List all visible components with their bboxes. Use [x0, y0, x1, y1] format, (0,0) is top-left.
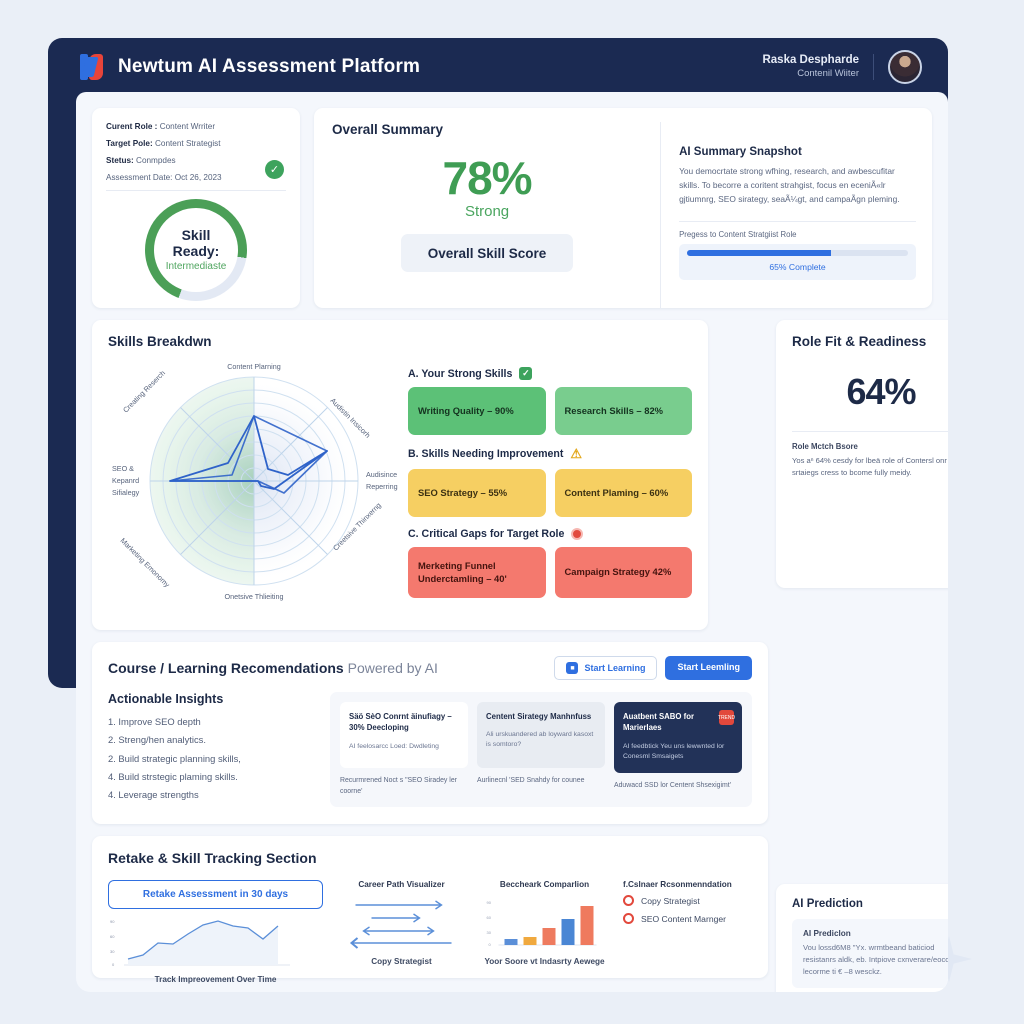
role-fit-title: Role Fit & Readiness: [792, 334, 948, 349]
svg-text:30: 30: [487, 930, 492, 935]
overall-score-rating: Strong: [332, 203, 642, 220]
course-card[interactable]: Centent Sirategy Manhnfuss Ali urskuande…: [477, 702, 605, 768]
app-header: Newtum AI Assessment Platform Raska Desp…: [48, 38, 948, 96]
user-role: Contenil Wiiter: [762, 68, 859, 81]
group-b-heading: B. Skills Needing Improvement ⚠: [408, 446, 692, 462]
recommendations-subtitle: Powered by AI: [348, 660, 438, 676]
divider: [106, 190, 286, 191]
retake-assessment-button[interactable]: Retake Assessment in 30 days: [108, 880, 323, 909]
course-item[interactable]: Centent Sirategy Manhnfuss Ali urskuande…: [477, 702, 605, 797]
skills-breakdown-title: Skills Breakdwn: [108, 334, 692, 349]
role-match-label: Role Mctch Bsore: [792, 442, 948, 451]
svg-text:60: 60: [487, 915, 492, 920]
gauge-title-2: Ready:: [173, 243, 220, 259]
list-item: 4. Leverage strengths: [108, 786, 316, 804]
recommendations-buttons: ■ Start Learning Start Leemling: [554, 656, 752, 680]
group-a-heading: A. Your Strong Skills ✓: [408, 367, 692, 380]
benchmark-title: Beccheark Comparlion: [480, 880, 609, 889]
retake-section-title: Retake & Skill Tracking Section: [108, 850, 752, 866]
skill-chip[interactable]: Writing Quality – 90%: [408, 387, 546, 435]
skills-breakdown-card: Skills Breakdwn: [92, 320, 708, 630]
skill-ready-gauge: Skill Ready: Intermediaste: [145, 199, 247, 301]
divider: [679, 221, 916, 222]
overall-summary-left: Overall Summary 78% Strong Overall Skill…: [314, 122, 660, 308]
target-role-line: Target Pole: Content Strategist: [106, 139, 286, 148]
skill-group-list: A. Your Strong Skills ✓ Writing Quality …: [408, 355, 692, 609]
course-footnote: Aduwacd SSD lor Centent Shsexigimt': [614, 781, 742, 792]
list-item[interactable]: Copy Strategist: [623, 895, 752, 906]
rec-label: Copy Strategist: [641, 896, 700, 906]
current-role-line: Curent Role : Content Wrriter: [106, 122, 286, 131]
actionable-insights-list: 1. Improve SEO depth 2. Streng/hen analy…: [108, 713, 316, 805]
critical-circle-icon: [571, 528, 583, 540]
start-learning-outline-button[interactable]: ■ Start Learning: [554, 656, 657, 680]
radar-axis-label: Kepanrd: [112, 476, 139, 485]
assessment-date-line: Assessment Date: Oct 26, 2023: [106, 173, 286, 182]
overall-summary-card: Overall Summary 78% Strong Overall Skill…: [314, 108, 932, 308]
course-body: AI feelosarcc Loed: Dwdleting: [349, 742, 459, 752]
list-item: 2. Build strategic planning skills,: [108, 750, 316, 768]
ai-prediction-inner-body: Vou lossd6M8 "Yx. wrmtbeand baticiod res…: [803, 942, 948, 978]
gauge-title-1: Skill: [182, 227, 211, 243]
radar-axis-label: Reperring: [366, 482, 398, 491]
career-path-title: Career Path Visualizer: [337, 880, 466, 889]
actionable-insights-title: Actionable Insights: [108, 692, 316, 706]
ai-summary-snapshot: AI Summary Snapshot You democrtate stron…: [660, 122, 932, 308]
svg-text:0: 0: [112, 962, 115, 967]
overall-score-percent: 78%: [332, 151, 642, 205]
start-learning-outline-label: Start Learning: [584, 663, 645, 673]
ai-prediction-title: AI Prediction: [792, 898, 948, 910]
overall-summary-title: Overall Summary: [332, 122, 642, 137]
course-card-list: Säö SèO Conrnt äinufiagy – 30% Deeclopin…: [330, 692, 752, 807]
skill-chip[interactable]: Merketing Funnel Underctamling – 40': [408, 547, 546, 598]
career-path-visualizer: Career Path Visualizer Copy Strategist: [337, 880, 466, 984]
overall-skill-score-pill: Overall Skill Score: [401, 234, 573, 272]
radar-axis-label: Marketing Emonomy: [119, 536, 172, 589]
course-item[interactable]: Säö SèO Conrnt äinufiagy – 30% Deeclopin…: [340, 702, 468, 797]
course-footnote: Recurmrened Noct s "SEO Siradey ler coor…: [340, 776, 468, 797]
snapshot-title: AI Summary Snapshot: [679, 146, 916, 158]
group-b-label: B. Skills Needing Improvement: [408, 448, 563, 460]
gauge-level: Intermediaste: [166, 261, 227, 273]
app-title: Newtum AI Assessment Platform: [118, 56, 420, 78]
career-path-arrows: [337, 895, 466, 953]
profile-card: Curent Role : Content Wrriter Target Pol…: [92, 108, 300, 308]
target-circle-icon: [623, 913, 634, 924]
skill-ready-gauge-wrap: Skill Ready: Intermediaste: [106, 199, 286, 301]
ai-prediction-inner: AI Prediclon Vou lossd6M8 "Yx. wrmtbeand…: [792, 919, 948, 988]
course-card[interactable]: Säö SèO Conrnt äinufiagy – 30% Deeclopin…: [340, 702, 468, 768]
actionable-insights: Actionable Insights 1. Improve SEO depth…: [108, 692, 316, 807]
course-recommendations-card: Course / Learning Recomendations Powered…: [92, 642, 768, 824]
benchmark-comparison: Beccheark Comparlion 9060300 Yoor Soore …: [480, 880, 609, 984]
skill-chip[interactable]: Research Skills – 82%: [555, 387, 693, 435]
radar-axis-label: Onetsive Thlieiting: [225, 592, 284, 601]
svg-text:90: 90: [110, 919, 115, 924]
role-fit-card: Role Fit & Readiness 64% Role Mctch Bsor…: [776, 320, 948, 588]
list-item[interactable]: SEO Content Marnger: [623, 913, 752, 924]
radar-axis-label: Creating Reserch: [121, 368, 167, 414]
svg-text:0: 0: [489, 942, 492, 947]
book-icon: ■: [566, 662, 578, 674]
course-title: Säö SèO Conrnt äinufiagy – 30% Deeclopin…: [349, 711, 459, 734]
divider: [792, 431, 948, 432]
course-body: Ali urskuandered ab loyward kasoxt is so…: [486, 730, 596, 750]
radar-axis-label: Sifialegy: [112, 488, 140, 497]
check-circle-icon: ✓: [265, 160, 284, 179]
radar-axis-label: SEO &: [112, 464, 134, 473]
svg-text:30: 30: [110, 949, 115, 954]
warning-triangle-icon: ⚠: [570, 446, 582, 462]
role-fit-percent: 64%: [792, 371, 948, 413]
benchmark-bar-chart: 9060300: [480, 895, 609, 953]
skill-chip[interactable]: Content Plaming – 60%: [555, 469, 693, 517]
progress-label: Pregess to Content Stratgiist Role: [679, 230, 916, 239]
user-name: Raska Despharde: [762, 53, 859, 69]
career-path-caption: Copy Strategist: [337, 957, 466, 966]
benchmark-caption: Yoor Soore vt Indasrty Aewege: [480, 957, 609, 966]
course-card[interactable]: TREND Auatbent SABO for Marierlaes AI fe…: [614, 702, 742, 773]
snapshot-body: You democrtate strong wfhing, research, …: [679, 165, 916, 207]
radar-chart-svg: Content Plarning Onetsive Thlieiting Aud…: [108, 355, 400, 605]
career-rec-title: f.Cslnaer Rcsonmenndation: [623, 880, 752, 889]
skill-chip[interactable]: Campaign Strategy 42%: [555, 547, 693, 598]
list-item: 1. Improve SEO depth: [108, 713, 316, 731]
group-a-label: A. Your Strong Skills: [408, 368, 512, 380]
radar-chart: Content Plarning Onetsive Thlieiting Aud…: [108, 355, 400, 605]
progress-box: 65% Complete: [679, 244, 916, 280]
course-item[interactable]: TREND Auatbent SABO for Marierlaes AI fe…: [614, 702, 742, 797]
summary-row: Curent Role : Content Wrriter Target Pol…: [92, 108, 932, 308]
group-b-chips: SEO Strategy – 55% Content Plaming – 60%: [408, 469, 692, 517]
list-item: 2. Streng/hen analytics.: [108, 731, 316, 749]
progress-track: [687, 250, 908, 256]
progress-text: 65% Complete: [687, 262, 908, 272]
trend-badge-icon: TREND: [719, 710, 734, 725]
course-body: AI feedbtick Yeu uns lewwnted lor Conesm…: [623, 742, 733, 762]
radar-axis-label: Audisince: [366, 470, 397, 479]
list-item: 4. Build strstegic plaming skills.: [108, 768, 316, 786]
dashboard-page: Curent Role : Content Wrriter Target Pol…: [76, 92, 948, 992]
skill-chip[interactable]: SEO Strategy – 55%: [408, 469, 546, 517]
recommendations-title: Course / Learning Recomendations Powered…: [108, 660, 438, 676]
ai-prediction-inner-title: AI Prediclon: [803, 929, 948, 938]
rec-label: SEO Content Marnger: [641, 914, 726, 924]
improvement-chart-caption: Track Impreovement Over Time: [108, 975, 323, 984]
group-c-label: C. Critical Gaps for Target Role: [408, 528, 564, 540]
svg-text:90: 90: [487, 900, 492, 905]
course-footnote: Aurlinecnl 'SED Snahdy for counee: [477, 776, 605, 787]
progress-fill: [687, 250, 831, 256]
svg-text:60: 60: [110, 934, 115, 939]
radar-axis-label: Content Plarning: [227, 362, 281, 371]
header-user-area[interactable]: Raska Despharde Contenil Wiiter: [762, 50, 922, 84]
course-title: Auatbent SABO for Marierlaes: [623, 711, 704, 734]
recommendations-title-main: Course / Learning Recomendations: [108, 660, 344, 676]
group-c-heading: C. Critical Gaps for Target Role: [408, 528, 692, 540]
improvement-line-chart: 9060300: [108, 913, 323, 971]
ai-prediction-card: AI Prediction AI Prediclon Vou lossd6M8 …: [776, 884, 948, 992]
header-divider: [873, 54, 874, 80]
career-recommendation: f.Cslnaer Rcsonmenndation Copy Strategis…: [623, 880, 752, 984]
target-circle-icon: [623, 895, 634, 906]
group-a-chips: Writing Quality – 90% Research Skills – …: [408, 387, 692, 435]
group-c-chips: Merketing Funnel Underctamling – 40' Cam…: [408, 547, 692, 598]
status-line: Stetus: Conmpdes: [106, 156, 286, 165]
user-meta: Raska Despharde Contenil Wiiter: [762, 53, 859, 81]
avatar[interactable]: [888, 50, 922, 84]
check-square-icon: ✓: [519, 367, 532, 380]
start-learning-fill-button[interactable]: Start Leemling: [665, 656, 752, 680]
retake-tracking-card: Retake & Skill Tracking Section Retake A…: [92, 836, 768, 978]
newtum-n-logo-icon: [80, 54, 104, 80]
role-match-body: Yos aⁿ 64% cesdy for lbeä role of Conter…: [792, 455, 948, 479]
recommendations-header: Course / Learning Recomendations Powered…: [108, 656, 752, 680]
course-title: Centent Sirategy Manhnfuss: [486, 711, 596, 722]
retake-column: Retake Assessment in 30 days 9060300 Tra…: [108, 880, 323, 984]
